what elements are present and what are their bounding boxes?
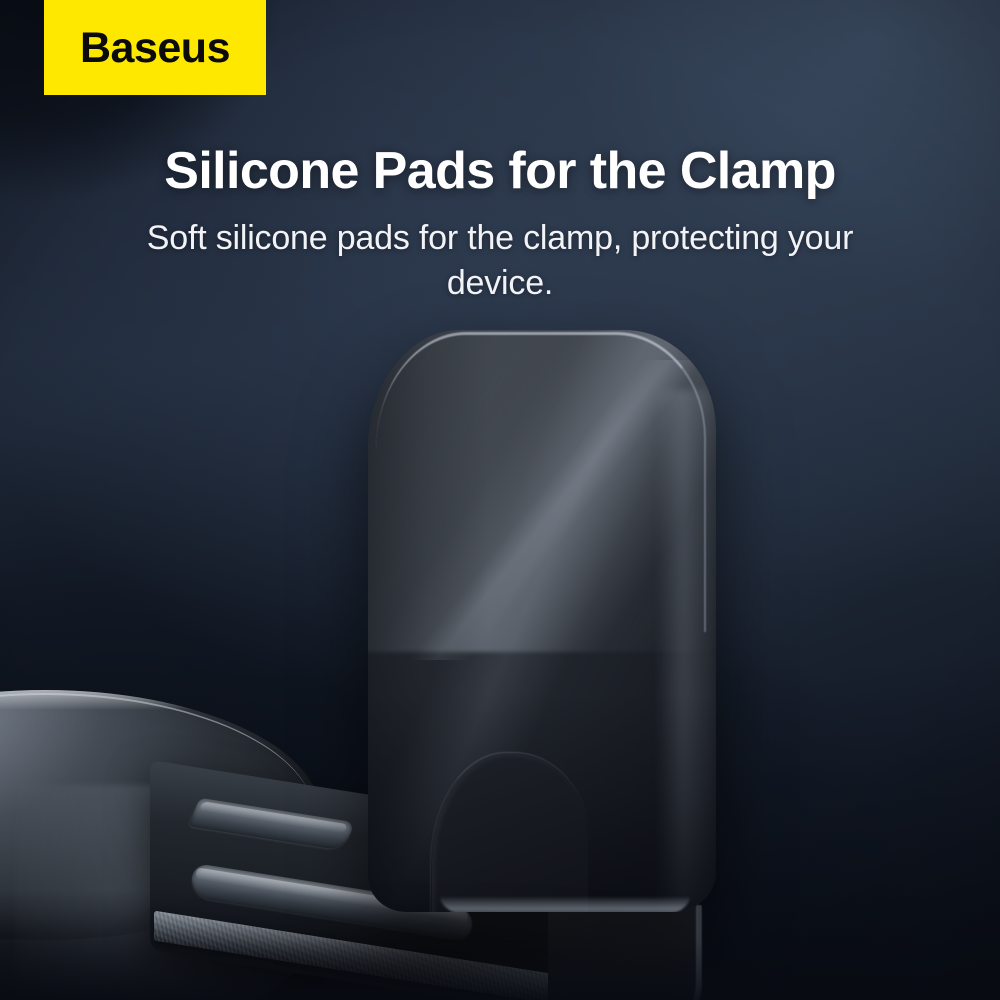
baseus-logo: Baseus bbox=[44, 0, 266, 95]
page-subtitle: Soft silicone pads for the clamp, protec… bbox=[0, 216, 1000, 306]
silicone-pad bbox=[368, 330, 716, 912]
copy-block: Silicone Pads for the Clamp Soft silicon… bbox=[0, 143, 1000, 307]
page-title: Silicone Pads for the Clamp bbox=[0, 143, 1000, 200]
bottom-fade-overlay bbox=[0, 890, 1000, 1000]
product-banner: Baseus Silicone Pads for the Clamp Soft … bbox=[0, 0, 1000, 1000]
baseus-logo-text: Baseus bbox=[80, 27, 230, 70]
pad-rim-highlight bbox=[376, 332, 706, 632]
